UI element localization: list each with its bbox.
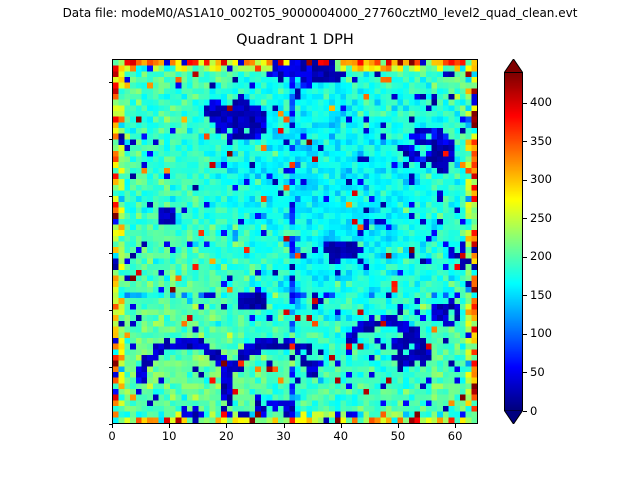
- colorbar-ticklabel-100: 100: [530, 327, 552, 340]
- colorbar-ticklabel-200: 200: [530, 250, 552, 263]
- y-tick-30: [109, 253, 113, 254]
- colorbar-tick-350: [523, 141, 527, 142]
- colorbar: [504, 59, 523, 424]
- x-tick-60: [455, 424, 456, 428]
- data-file-suptitle: Data file: modeM0/AS1A10_002T05_90000040…: [0, 6, 640, 21]
- colorbar-ticklabel-350: 350: [530, 135, 552, 148]
- colorbar-tick-400: [523, 103, 527, 104]
- x-tick-40: [341, 424, 342, 428]
- colorbar-ticklabel-250: 250: [530, 212, 552, 225]
- colorbar-body: [504, 72, 523, 411]
- x-ticklabel-30: 30: [264, 430, 304, 443]
- y-tick-20: [109, 310, 113, 311]
- colorbar-ticklabel-400: 400: [530, 96, 552, 109]
- colorbar-ticklabel-0: 0: [530, 405, 537, 418]
- colorbar-tick-0: [523, 411, 527, 412]
- x-tick-10: [169, 424, 170, 428]
- x-tick-20: [226, 424, 227, 428]
- x-ticklabel-10: 10: [149, 430, 189, 443]
- x-ticklabel-40: 40: [321, 430, 361, 443]
- colorbar-tick-250: [523, 218, 527, 219]
- colorbar-tick-50: [523, 372, 527, 373]
- y-tick-10: [109, 367, 113, 368]
- colorbar-tick-200: [523, 257, 527, 258]
- colorbar-ticklabel-150: 150: [530, 289, 552, 302]
- colorbar-gradient: [505, 73, 522, 410]
- y-tick-0: [109, 424, 113, 425]
- x-tick-0: [112, 424, 113, 428]
- x-ticklabel-0: 0: [92, 430, 132, 443]
- colorbar-tick-150: [523, 295, 527, 296]
- colorbar-extend-top-arrow: [504, 59, 523, 73]
- colorbar-tick-100: [523, 334, 527, 335]
- dph-heatmap-image: [113, 60, 477, 423]
- colorbar-ticklabel-300: 300: [530, 173, 552, 186]
- x-ticklabel-60: 60: [435, 430, 475, 443]
- plot-title: Quadrant 1 DPH: [112, 31, 478, 49]
- x-ticklabel-20: 20: [206, 430, 246, 443]
- heatmap-axes: [112, 59, 478, 424]
- y-tick-50: [109, 139, 113, 140]
- matplotlib-figure: Data file: modeM0/AS1A10_002T05_90000040…: [0, 0, 640, 480]
- x-tick-30: [284, 424, 285, 428]
- y-tick-40: [109, 196, 113, 197]
- colorbar-ticklabel-50: 50: [530, 366, 545, 379]
- x-tick-50: [398, 424, 399, 428]
- y-tick-60: [109, 82, 113, 83]
- x-ticklabel-50: 50: [378, 430, 418, 443]
- colorbar-extend-bottom-arrow: [504, 410, 523, 424]
- colorbar-tick-300: [523, 180, 527, 181]
